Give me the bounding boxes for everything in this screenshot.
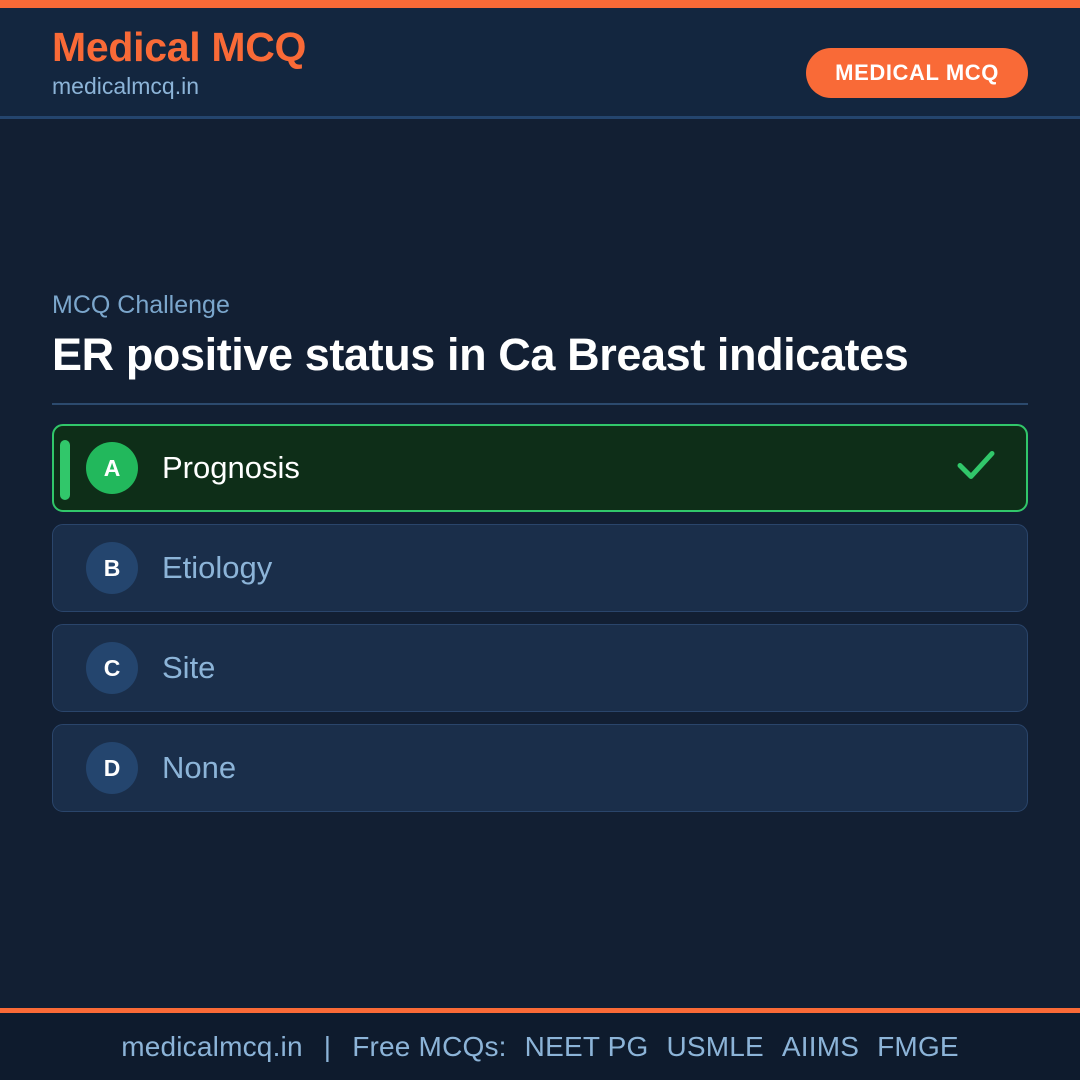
- option-badge-c: C: [86, 642, 138, 694]
- footer-site[interactable]: medicalmcq.in: [121, 1031, 303, 1062]
- option-row-d[interactable]: D None: [52, 724, 1028, 812]
- option-badge-d: D: [86, 742, 138, 794]
- option-row-b[interactable]: B Etiology: [52, 524, 1028, 612]
- brand-block: Medical MCQ medicalmcq.in: [52, 24, 306, 101]
- question-divider: [52, 403, 1028, 405]
- option-label-b: Etiology: [162, 551, 272, 585]
- footer-exam-aiims[interactable]: AIIMS: [772, 1031, 859, 1063]
- brand-title: Medical MCQ: [52, 24, 306, 71]
- option-row-a[interactable]: A Prognosis: [52, 424, 1028, 512]
- correct-accent-bar: [60, 440, 70, 500]
- eyebrow-label: MCQ Challenge: [52, 290, 1028, 320]
- option-row-c[interactable]: C Site: [52, 624, 1028, 712]
- option-label-c: Site: [162, 651, 215, 685]
- footer-exam-usmle[interactable]: USMLE: [656, 1031, 763, 1063]
- option-label-a: Prognosis: [162, 451, 300, 485]
- main-content: MCQ Challenge ER positive status in Ca B…: [52, 290, 1028, 824]
- footer-exam-neetpg[interactable]: NEET PG: [515, 1031, 649, 1063]
- options-list: A Prognosis B Etiology C Site: [52, 424, 1028, 812]
- page-header: Medical MCQ medicalmcq.in MEDICAL MCQ: [0, 8, 1080, 119]
- brand-domain: medicalmcq.in: [52, 73, 306, 101]
- check-icon: [956, 449, 996, 488]
- top-accent-bar: [0, 0, 1080, 8]
- option-badge-a: A: [86, 442, 138, 494]
- footer-exams-label: Free MCQs:: [352, 1031, 506, 1062]
- page-footer: medicalmcq.in | Free MCQs: NEET PG USMLE…: [0, 1008, 1080, 1080]
- question-text: ER positive status in Ca Breast indicate…: [52, 328, 962, 381]
- footer-text: medicalmcq.in | Free MCQs: NEET PG USMLE…: [121, 1031, 959, 1063]
- footer-separator: |: [311, 1031, 344, 1063]
- footer-exam-fmge[interactable]: FMGE: [867, 1031, 959, 1063]
- option-badge-b: B: [86, 542, 138, 594]
- option-label-d: None: [162, 751, 236, 785]
- header-badge[interactable]: MEDICAL MCQ: [806, 48, 1028, 98]
